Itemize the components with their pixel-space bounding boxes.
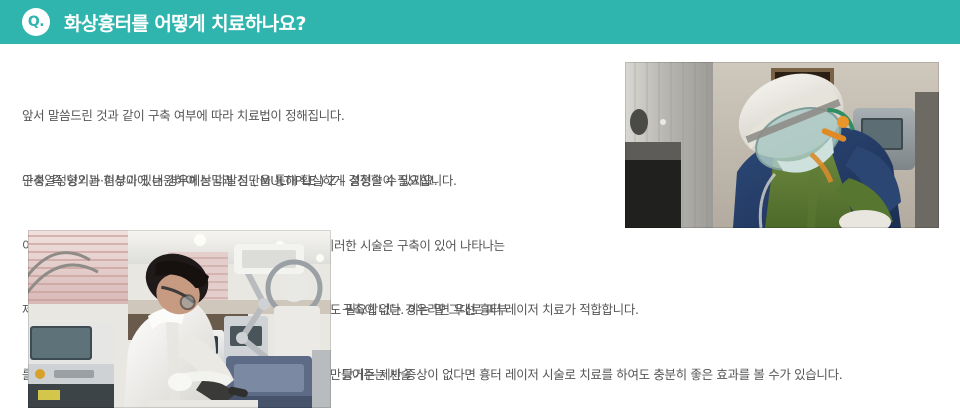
q-badge-label: Q. [28,15,44,29]
laser-clinic-photo [28,230,331,408]
question-header: Q. 화상흉터를 어떻게 치료하나요? [0,0,960,44]
paragraph-line: 구축, 즉 당기는 현상이 있는 경우에는 다발성 ( MULTIPLE ) Z… [22,170,508,192]
paragraph-line: 구축이 없는 경우라면 우선 흉터 레이저 치료가 적합합니다. [342,299,842,321]
page-title: 화상흉터를 어떻게 치료하나요? [64,9,306,36]
paragraph-line: 앞서 말씀드린 것과 같이 구축 여부에 따라 치료법이 정해집니다. [22,105,437,127]
surgery-photo [625,62,939,228]
page-root: Q. 화상흉터를 어떻게 치료하나요? 앞서 말씀드린 것과 같이 구축 여부에… [0,0,960,408]
paragraph-line: 당기는 제반 증상이 없다면 흉터 레이저 시술로 치료를 하여도 충분히 좋은… [342,364,842,386]
q-mark-icon: Q. [22,8,50,36]
laser-paragraph: 구축이 없는 경우라면 우선 흉터 레이저 치료가 적합합니다. 당기는 제반 … [342,256,842,408]
